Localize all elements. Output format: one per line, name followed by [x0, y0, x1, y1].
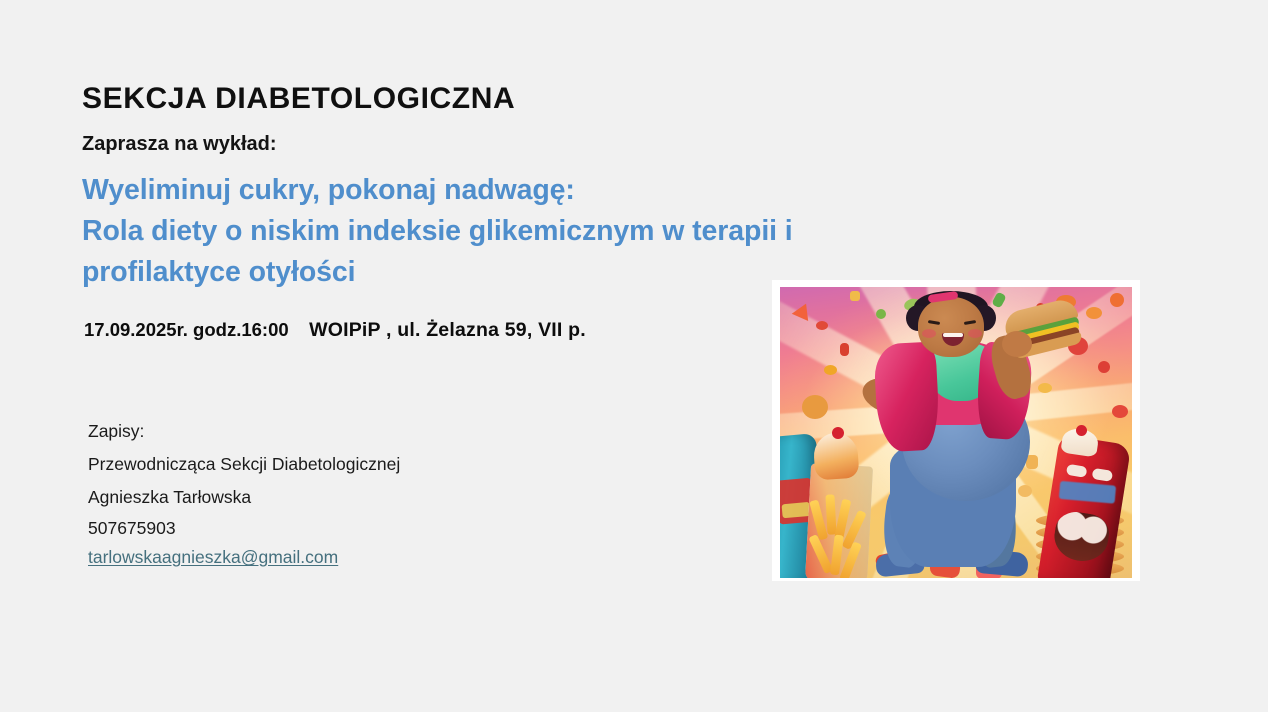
contact-role: Przewodnicząca Sekcji Diabetologicznej	[88, 448, 400, 481]
registration-contact-block: Zapisy: Przewodnicząca Sekcji Diabetolog…	[88, 415, 400, 572]
slide-canvas: SEKCJA DIABETOLOGICZNA Zaprasza na wykła…	[0, 0, 1268, 712]
illustration-fast-food-obesity	[780, 287, 1132, 578]
cheek-blush	[922, 329, 936, 338]
contact-email-link[interactable]: tarlowskaagnieszka@gmail.com	[88, 543, 338, 572]
head	[918, 297, 984, 357]
contact-name: Agnieszka Tarłowska	[88, 481, 400, 514]
lecture-heading-line-1: Wyeliminuj cukry, pokonaj nadwagę:	[82, 170, 1052, 211]
event-datetime: 17.09.2025r. godz.16:00	[84, 319, 289, 340]
teeth	[943, 333, 963, 337]
illustration-frame	[772, 280, 1140, 581]
page-title: SEKCJA DIABETOLOGICZNA	[82, 82, 515, 116]
event-details: 17.09.2025r. godz.16:00 WOIPiP , ul. Żel…	[84, 319, 586, 342]
lecture-heading: Wyeliminuj cukry, pokonaj nadwagę: Rola …	[82, 170, 1052, 293]
invitation-label: Zaprasza na wykład:	[82, 133, 277, 156]
contact-phone[interactable]: 507675903	[88, 514, 400, 543]
registration-label: Zapisy:	[88, 415, 400, 448]
jacket-panel-left	[873, 341, 941, 452]
cheek-blush	[968, 329, 982, 338]
cartoon-woman-figure	[780, 287, 1132, 578]
hand-right	[1002, 331, 1032, 357]
lecture-heading-line-2: Rola diety o niskim indeksie glikemiczny…	[82, 211, 1052, 252]
event-venue: WOIPiP , ul. Żelazna 59, VII p.	[309, 319, 586, 341]
